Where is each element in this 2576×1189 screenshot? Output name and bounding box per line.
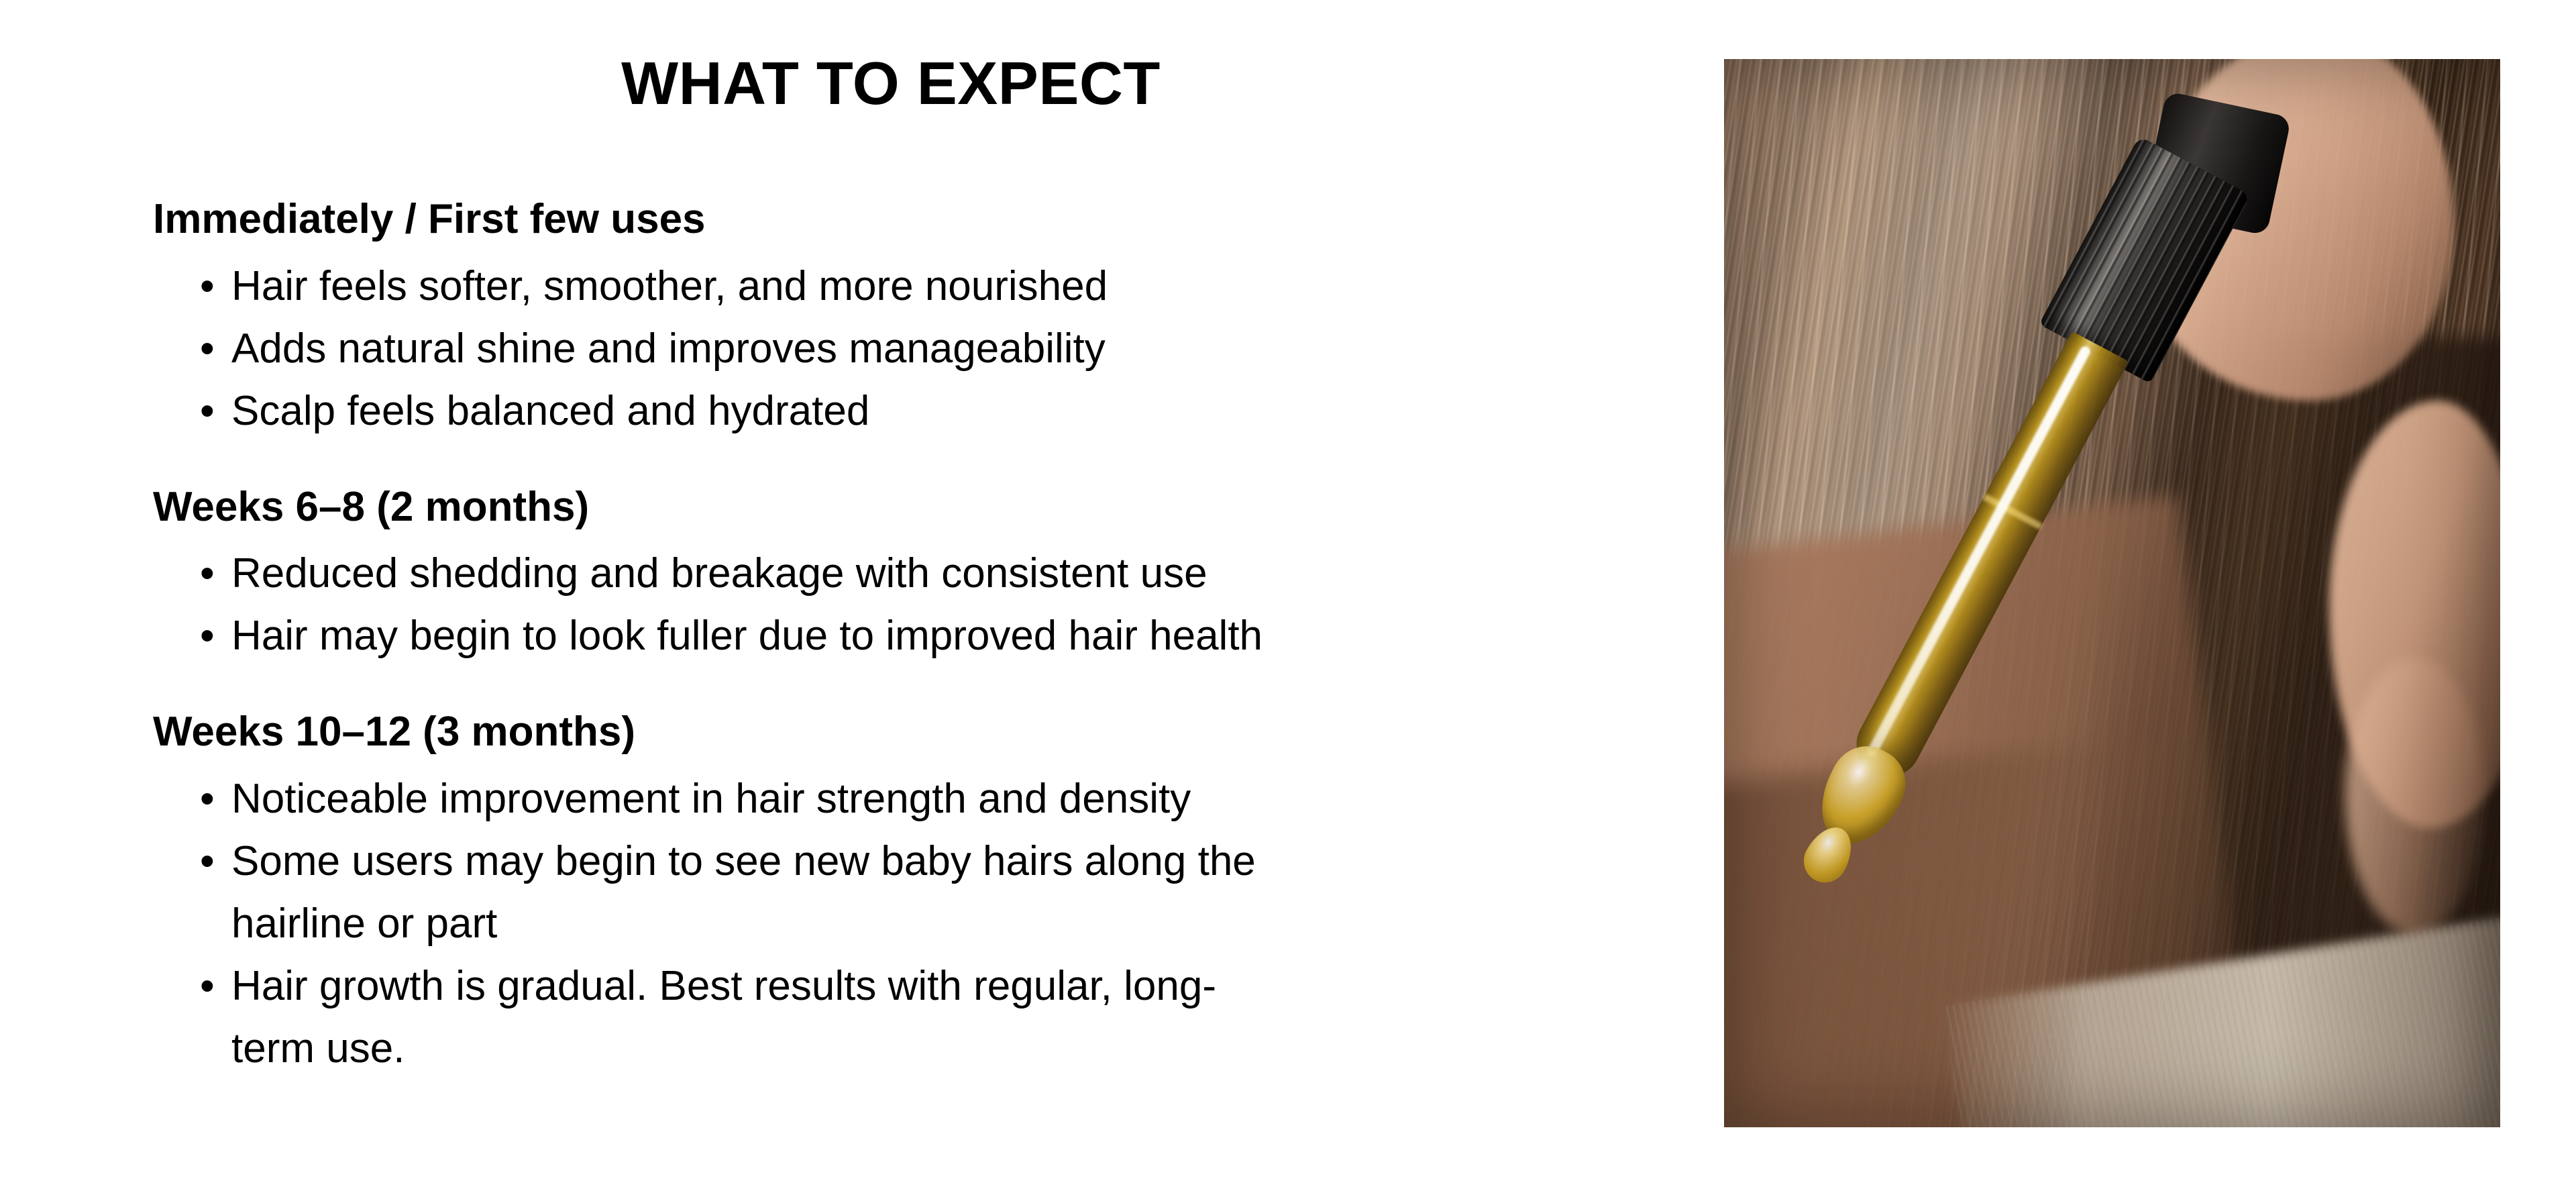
section-heading: Immediately / First few uses [153,193,1669,246]
bullet-text: Hair growth is gradual. Best results wit… [231,955,1278,1080]
bullet-text: Noticeable improvement in hair strength … [231,768,1278,830]
list-item: • Scalp feels balanced and hydrated [153,380,1669,442]
bullet-dot-icon: • [200,605,215,667]
section-immediately: Immediately / First few uses • Hair feel… [153,193,1669,442]
bullet-text: Hair may begin to look fuller due to imp… [231,605,1278,667]
bullet-text: Adds natural shine and improves manageab… [231,317,1278,380]
list-item: • Noticeable improvement in hair strengt… [153,768,1669,830]
bullet-text: Reduced shedding and breakage with consi… [231,542,1278,605]
list-item: • Reduced shedding and breakage with con… [153,542,1669,605]
bullet-dot-icon: • [200,317,215,380]
section-heading: Weeks 10–12 (3 months) [153,706,1669,758]
bullet-text: Some users may begin to see new baby hai… [231,830,1278,955]
page-title: WHAT TO EXPECT [153,52,1629,116]
bullet-dot-icon: • [200,380,215,442]
bullet-text: Scalp feels balanced and hydrated [231,380,1278,442]
bullet-text: Hair feels softer, smoother, and more no… [231,255,1278,317]
bullet-dot-icon: • [200,955,215,1017]
bullet-list: • Noticeable improvement in hair strengt… [153,768,1669,1080]
list-item: • Hair growth is gradual. Best results w… [153,955,1669,1080]
section-weeks-10-12: Weeks 10–12 (3 months) • Noticeable impr… [153,706,1669,1080]
slide-canvas: WHAT TO EXPECT Immediately / First few u… [0,0,2576,1189]
bullet-list: • Reduced shedding and breakage with con… [153,542,1669,667]
content-column: WHAT TO EXPECT Immediately / First few u… [0,0,1697,1189]
list-item: • Hair feels softer, smoother, and more … [153,255,1669,317]
bullet-dot-icon: • [200,255,215,317]
hair-oil-photo [1724,59,2500,1127]
bullet-dot-icon: • [200,768,215,830]
finger-lower [2345,658,2485,935]
list-item: • Hair may begin to look fuller due to i… [153,605,1669,667]
list-item: • Some users may begin to see new baby h… [153,830,1669,955]
sections-list: Immediately / First few uses • Hair feel… [153,193,1669,1080]
bullet-dot-icon: • [200,542,215,605]
bullet-dot-icon: • [200,830,215,892]
section-weeks-6-8: Weeks 6–8 (2 months) • Reduced shedding … [153,481,1669,668]
section-heading: Weeks 6–8 (2 months) [153,481,1669,533]
bullet-list: • Hair feels softer, smoother, and more … [153,255,1669,442]
list-item: • Adds natural shine and improves manage… [153,317,1669,380]
